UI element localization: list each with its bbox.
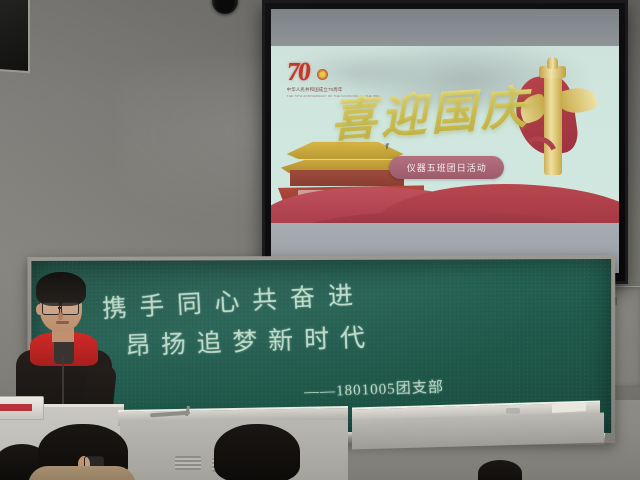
presenter-mouth: [56, 321, 69, 324]
screen-surface: 70 中华人民共和国成立70周年 THE 70TH ANNIVERSARY OF…: [271, 9, 619, 273]
desk-paper-sheet[interactable]: [552, 402, 586, 413]
projection-screen[interactable]: 70 中华人民共和国成立70周年 THE 70TH ANNIVERSARY OF…: [262, 0, 628, 284]
desk-small-object[interactable]: [506, 408, 520, 414]
slide-subtitle-text: 仪器五班团日活动: [407, 161, 487, 174]
corner-dark-panel: [0, 0, 30, 73]
slide-artwork: 70 中华人民共和国成立70周年 THE 70TH ANNIVERSARY OF…: [271, 46, 619, 223]
podium-vent-left-icon: [175, 456, 201, 470]
slide-subtitle-pill: 仪器五班团日活动: [389, 156, 504, 179]
presenter-brow-right: [62, 299, 75, 301]
storage-box-red-label: [0, 404, 32, 411]
student-front-center-right: [214, 424, 300, 480]
presenter-nose: [58, 312, 63, 320]
letterbox-top: [271, 9, 619, 46]
presenter-brow-left: [43, 299, 56, 301]
glasses-lens-right-icon: [61, 302, 79, 315]
classroom-scene: 70 中华人民共和国成立70周年 THE 70TH ANNIVERSARY OF…: [0, 0, 640, 480]
gate-body: [290, 170, 404, 186]
glasses-bridge-icon: [58, 307, 62, 309]
emblem-star-icon: [317, 69, 328, 80]
student-front-right: [478, 460, 522, 480]
emblem-number: 70: [285, 57, 310, 87]
student-center-shoulder: [28, 466, 136, 480]
